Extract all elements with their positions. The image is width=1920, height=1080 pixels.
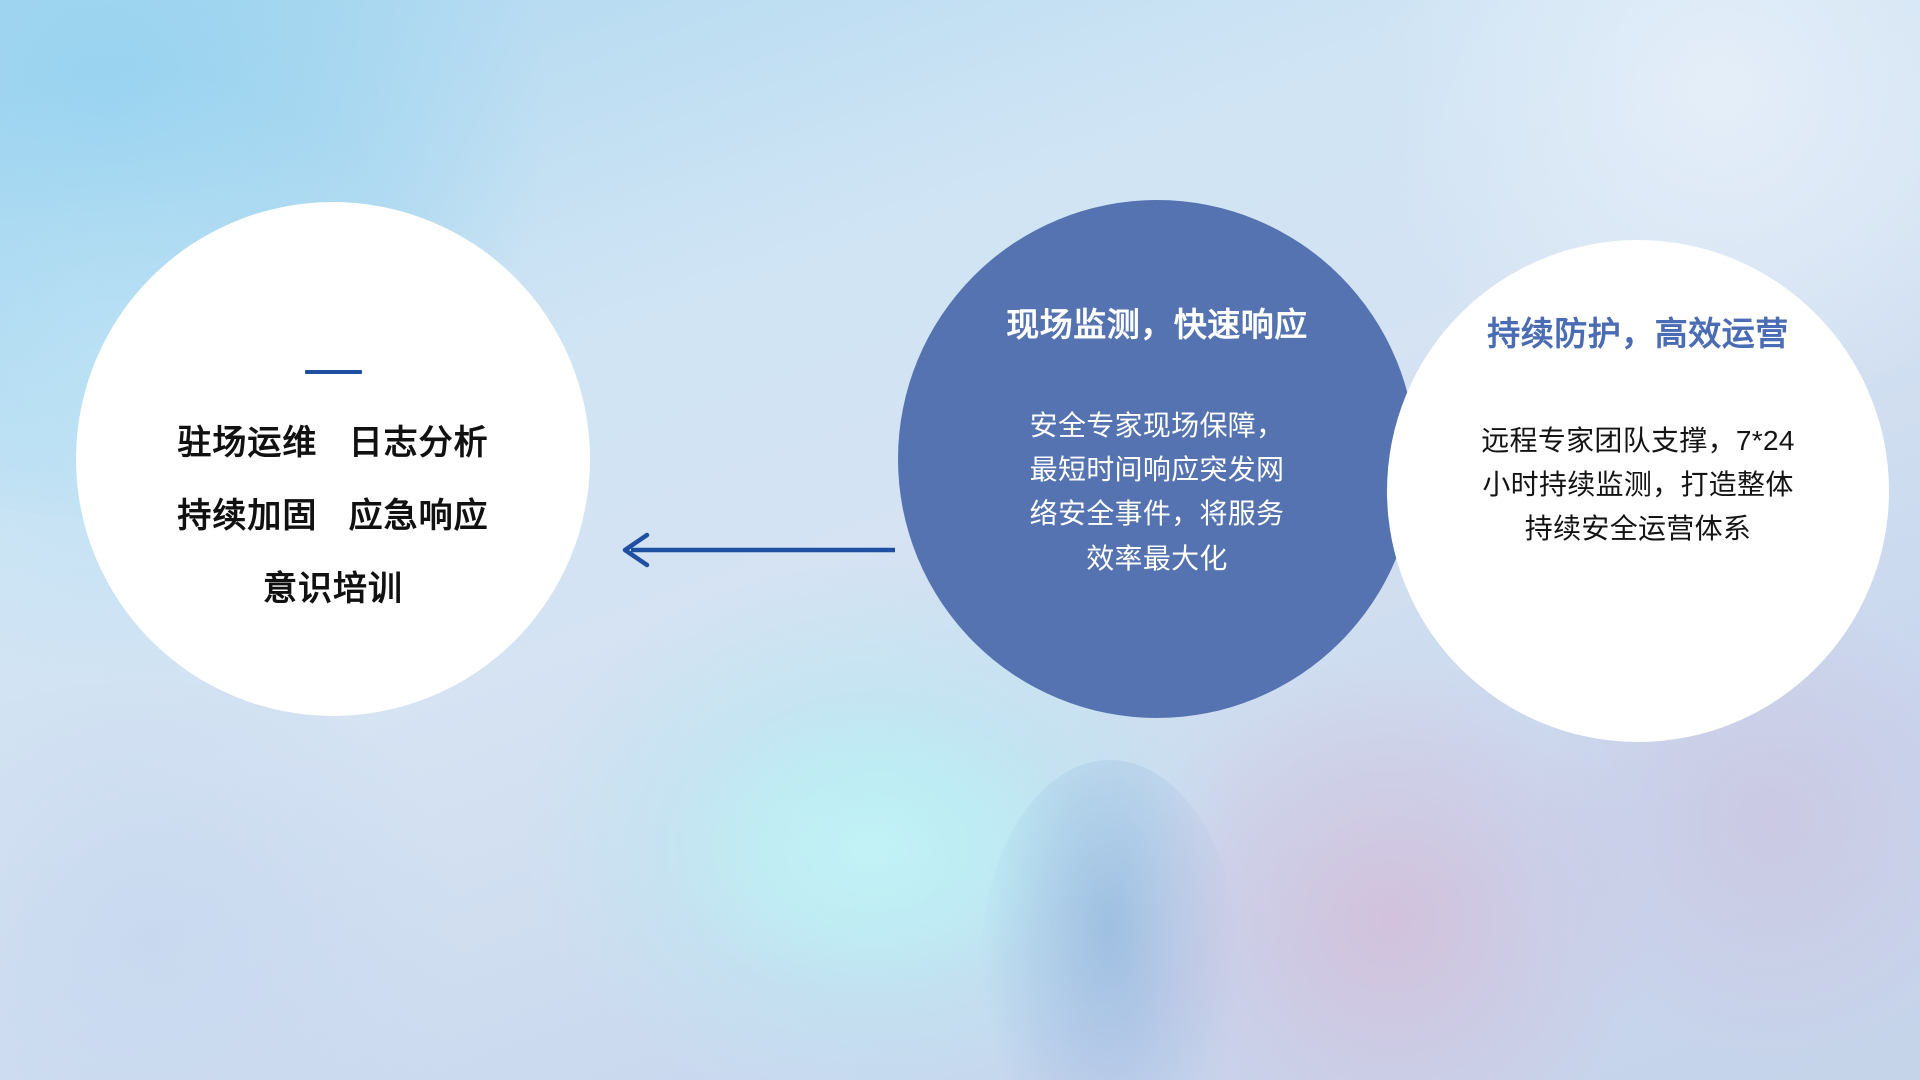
protection-body-line-2: 小时持续监测，打造整体 (1409, 463, 1867, 507)
onsite-body-line-2: 最短时间响应突发网 (948, 448, 1366, 492)
capabilities-line-2: 持续加固 应急响应 (76, 499, 590, 533)
onsite-monitoring-title: 现场监测，快速响应 (948, 306, 1366, 344)
onsite-monitoring-body: 安全专家现场保障， 最短时间响应突发网 络安全事件，将服务 效率最大化 (948, 404, 1366, 581)
continuous-protection-circle[interactable]: 持续防护，高效运营 远程专家团队支撑，7*24 小时持续监测，打造整体 持续安全… (1387, 240, 1889, 742)
capabilities-line-1: 驻场运维 日志分析 (76, 426, 590, 460)
continuous-protection-content: 持续防护，高效运营 远程专家团队支撑，7*24 小时持续监测，打造整体 持续安全… (1409, 315, 1867, 552)
onsite-monitoring-content: 现场监测，快速响应 安全专家现场保障， 最短时间响应突发网 络安全事件，将服务 … (948, 306, 1366, 581)
divider-rule (305, 370, 362, 374)
onsite-body-line-1: 安全专家现场保障， (948, 404, 1366, 448)
leftward-flow-arrow (605, 520, 895, 580)
arrow-icon (625, 535, 895, 565)
onsite-monitoring-circle[interactable]: 现场监测，快速响应 安全专家现场保障， 最短时间响应突发网 络安全事件，将服务 … (898, 200, 1416, 718)
capabilities-circle[interactable]: 驻场运维 日志分析 持续加固 应急响应 意识培训 (76, 202, 590, 716)
protection-body-line-3: 持续安全运营体系 (1409, 507, 1867, 551)
capabilities-content: 驻场运维 日志分析 持续加固 应急响应 意识培训 (76, 370, 590, 606)
continuous-protection-title: 持续防护，高效运营 (1409, 315, 1867, 353)
onsite-body-line-3: 络安全事件，将服务 (948, 492, 1366, 536)
capabilities-line-3: 意识培训 (76, 572, 590, 606)
protection-body-line-1: 远程专家团队支撑，7*24 (1409, 419, 1867, 463)
onsite-body-line-4: 效率最大化 (948, 537, 1366, 581)
slide-canvas: 驻场运维 日志分析 持续加固 应急响应 意识培训 现场监测，快速响应 安全专家现… (0, 0, 1920, 1080)
continuous-protection-body: 远程专家团队支撑，7*24 小时持续监测，打造整体 持续安全运营体系 (1409, 419, 1867, 552)
